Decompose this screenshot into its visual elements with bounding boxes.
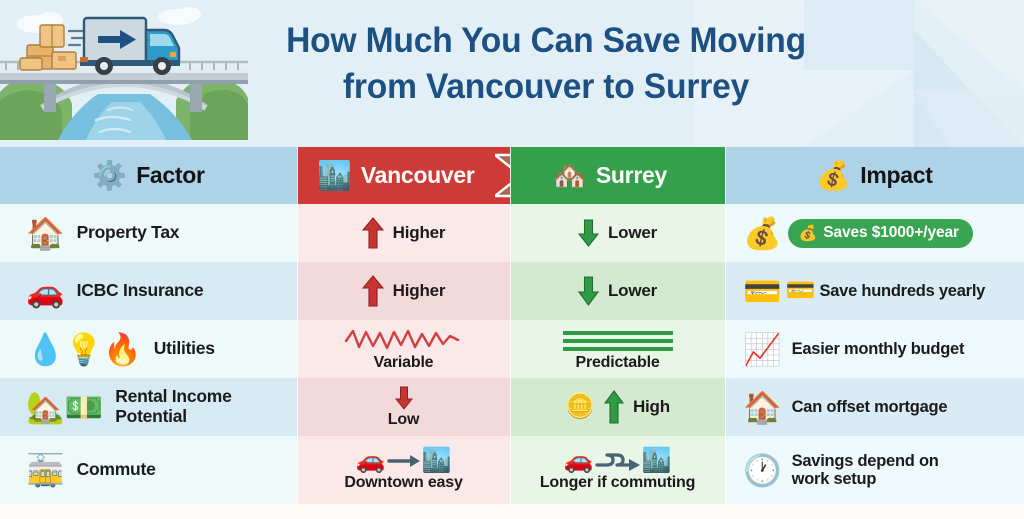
credit-card-icon: 💳	[743, 276, 782, 307]
factor-label-line-2: Potential	[115, 407, 231, 427]
cell-vancouver: Higher	[297, 262, 510, 320]
column-divider	[297, 147, 298, 504]
table-header-row: ⚙️ Factor 🏙️ Vancouver 🏘️	[0, 147, 1024, 204]
cell-surrey: Predictable	[510, 320, 725, 378]
surrey-value: Lower	[608, 223, 657, 243]
vancouver-value: Higher	[393, 223, 446, 243]
table-row: 🚗 ICBC Insurance Higher Lower 💳 💳 Save h…	[0, 262, 1024, 320]
cell-surrey: 🚗 🏙️ Longer if commuting	[510, 436, 725, 504]
page-title: How Much You Can Save Moving from Vancou…	[210, 18, 882, 109]
cell-impact: 💳 💳 Save hundreds yearly	[725, 262, 1024, 320]
title-line-1: How Much You Can Save Moving	[286, 21, 806, 60]
infographic-page: How Much You Can Save Moving from Vancou…	[0, 0, 1024, 519]
table-row: 💧💡🔥 Utilities Variable	[0, 320, 1024, 378]
cell-factor: 🏡💵 Rental Income Potential	[0, 378, 297, 436]
vancouver-value: Higher	[393, 281, 446, 301]
impact-value-line-2: work setup	[792, 470, 939, 488]
house-coin-icon: 🏠	[743, 392, 782, 423]
header-label-factor: Factor	[136, 162, 205, 189]
city-icon: 🏙️	[422, 449, 452, 473]
surrey-value: Longer if commuting	[540, 474, 695, 492]
column-divider	[510, 147, 511, 504]
factor-label: Rental Income Potential	[115, 387, 231, 426]
vancouver-value: Downtown easy	[344, 474, 462, 492]
cell-surrey: Lower	[510, 262, 725, 320]
cell-impact: 🕐 Savings depend on work setup	[725, 436, 1024, 504]
water-bulb-flame-icon: 💧💡🔥	[26, 334, 142, 365]
city-icon: 🏙️	[642, 449, 672, 473]
winding-arrow-icon	[595, 450, 641, 472]
payment-card-icon: 💳	[786, 279, 816, 303]
cell-vancouver: Higher	[297, 204, 510, 262]
cell-factor: 💧💡🔥 Utilities	[0, 320, 297, 378]
impact-value: Easier monthly budget	[792, 340, 965, 358]
cell-impact: 📈 Easier monthly budget	[725, 320, 1024, 378]
table-row: 🏡💵 Rental Income Potential Low 🪙	[0, 378, 1024, 436]
arrow-down-small-red-icon	[395, 386, 413, 410]
factor-label: Utilities	[154, 339, 215, 359]
parallel-green-lines-icon	[559, 327, 677, 353]
straight-arrow-icon	[387, 453, 421, 469]
vancouver-value: Low	[388, 411, 419, 429]
header-band: How Much You Can Save Moving from Vancou…	[0, 0, 1024, 147]
impact-value: Saves $1000+/year	[823, 224, 959, 242]
header-cell-impact: 💰 Impact	[725, 147, 1024, 204]
arrow-up-red-icon	[362, 275, 384, 307]
impact-value: Can offset mortgage	[792, 398, 948, 416]
zigzag-red-line-icon	[344, 327, 464, 353]
coins-stack-icon: 🪙	[565, 395, 595, 419]
clock-car-train-icon: 🚋	[26, 455, 65, 486]
impact-value: Save hundreds yearly	[820, 282, 986, 300]
column-divider	[725, 147, 726, 504]
city-icon: 🏙️	[317, 162, 352, 190]
header-label-impact: Impact	[860, 162, 932, 189]
cell-impact: 💰 💰 Saves $1000+/year	[725, 204, 1024, 262]
surrey-value: Lower	[608, 281, 657, 301]
factor-label: ICBC Insurance	[77, 281, 204, 301]
money-bag-icon: 💰	[816, 162, 851, 190]
car-icon: 🚗	[356, 449, 386, 473]
surrey-value: Predictable	[575, 354, 659, 372]
suburb-icon: 🏘️	[552, 162, 587, 190]
cell-vancouver: Variable	[297, 320, 510, 378]
cell-impact: 🏠 Can offset mortgage	[725, 378, 1024, 436]
cell-factor: 🚋 Commute	[0, 436, 297, 504]
header-cell-surrey: 🏘️ Surrey	[510, 147, 725, 204]
house-for-rent-money-icon: 🏡💵	[26, 392, 103, 423]
arrow-up-red-icon	[362, 217, 384, 249]
gear-icon: ⚙️	[92, 162, 127, 190]
money-bag-plus-icon: 💰	[743, 218, 782, 249]
money-bag-icon: 💰	[799, 224, 818, 242]
header-label-vancouver: Vancouver	[361, 162, 475, 189]
transition-arrow-icon	[495, 147, 510, 204]
arrow-down-green-icon	[578, 276, 599, 306]
cell-factor: 🏠 Property Tax	[0, 204, 297, 262]
title-line-2: from Vancouver to Surrey	[210, 64, 882, 110]
impact-value-line-1: Savings depend on	[792, 452, 939, 470]
surrey-value: High	[633, 397, 670, 417]
cell-vancouver: Low	[297, 378, 510, 436]
bottom-strip	[0, 504, 1024, 519]
arrow-down-green-icon	[578, 219, 599, 247]
factor-label: Property Tax	[77, 223, 180, 243]
status-badge: 💰 Saves $1000+/year	[788, 219, 973, 248]
coins-stack-up-arrow-icon	[604, 390, 624, 424]
header-label-surrey: Surrey	[596, 162, 667, 189]
cell-factor: 🚗 ICBC Insurance	[0, 262, 297, 320]
cell-vancouver: 🚗 🏙️ Downtown easy	[297, 436, 510, 504]
table-row: 🚋 Commute 🚗 🏙️ Downtown easy	[0, 436, 1024, 504]
cell-surrey: 🪙 High	[510, 378, 725, 436]
cell-surrey: Lower	[510, 204, 725, 262]
table-row: 🏠 Property Tax Higher Lower 💰 💰 Save	[0, 204, 1024, 262]
clock-question-icon: 🕐	[743, 455, 782, 486]
header-cell-vancouver: 🏙️ Vancouver	[297, 147, 510, 204]
impact-value: Savings depend on work setup	[792, 452, 939, 489]
growth-chart-icon: 📈	[743, 334, 782, 365]
factor-label: Commute	[77, 460, 156, 480]
header-cell-factor: ⚙️ Factor	[0, 147, 297, 204]
factor-label-line-1: Rental Income	[115, 387, 231, 407]
house-with-coin-icon: 🏠	[26, 218, 65, 249]
car-winding-road-to-city-icon: 🚗 🏙️	[564, 449, 672, 473]
car-straight-to-city-icon: 🚗 🏙️	[356, 449, 452, 473]
vancouver-value: Variable	[374, 354, 434, 372]
car-insurance-icon: 🚗	[26, 276, 65, 307]
car-icon: 🚗	[564, 449, 594, 473]
comparison-table: ⚙️ Factor 🏙️ Vancouver 🏘️	[0, 147, 1024, 504]
